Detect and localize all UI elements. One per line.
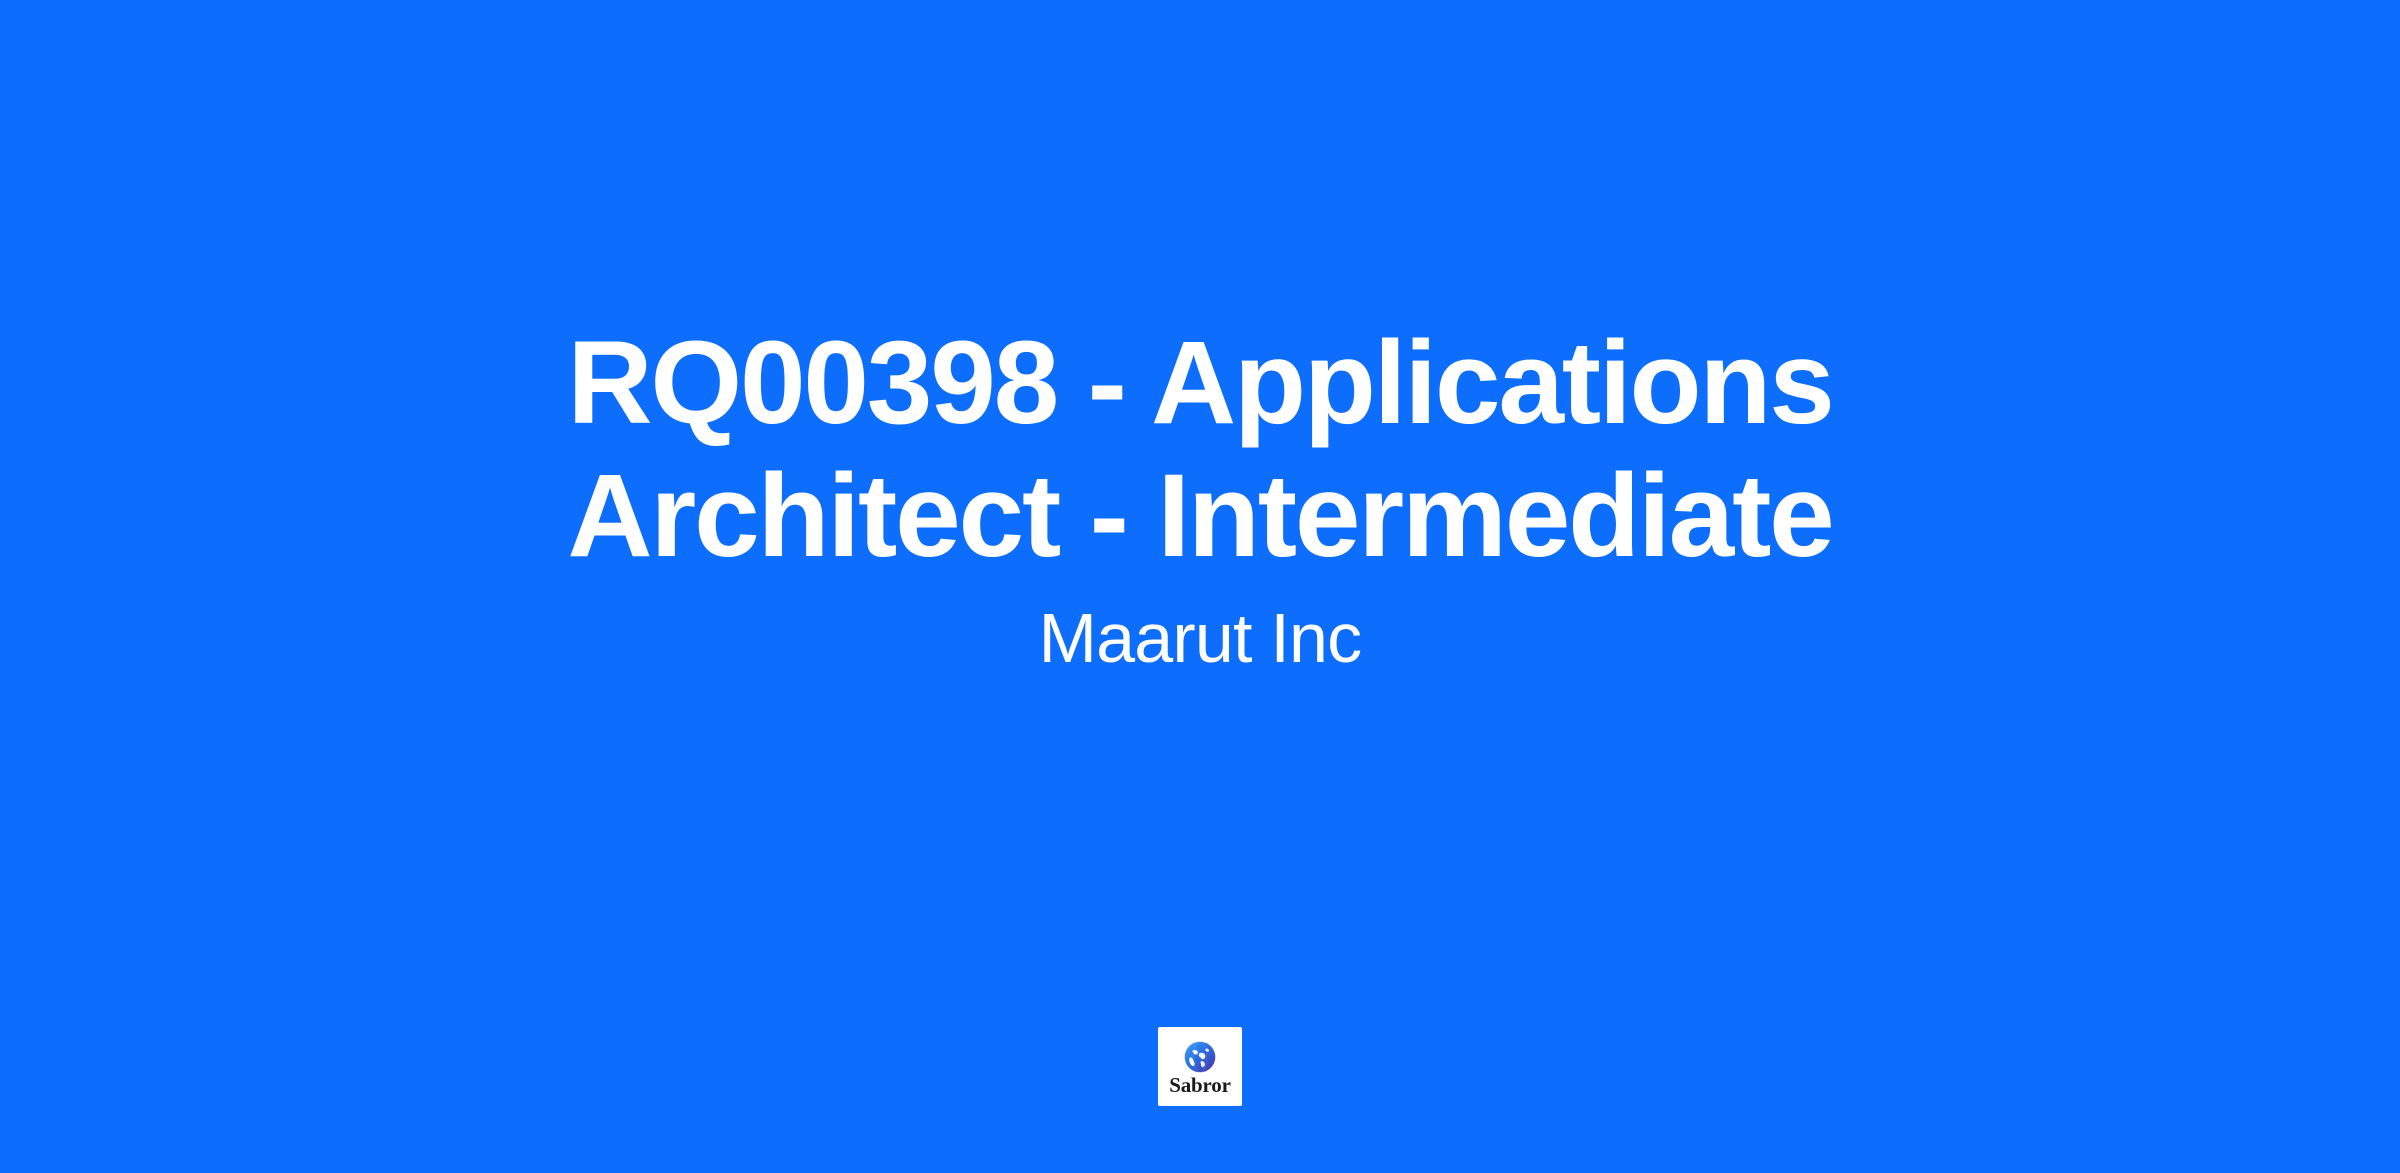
company-name: Maarut Inc: [1039, 596, 1362, 680]
brand-badge[interactable]: Sabror: [1158, 1027, 1242, 1106]
share-card: RQ00398 - Applications Architect - Inter…: [0, 0, 2400, 1173]
page-title: RQ00398 - Applications Architect - Inter…: [530, 317, 1870, 581]
globe-icon: [1183, 1040, 1217, 1074]
hero-content: RQ00398 - Applications Architect - Inter…: [0, 0, 2400, 1173]
brand-name: Sabror: [1169, 1075, 1230, 1096]
